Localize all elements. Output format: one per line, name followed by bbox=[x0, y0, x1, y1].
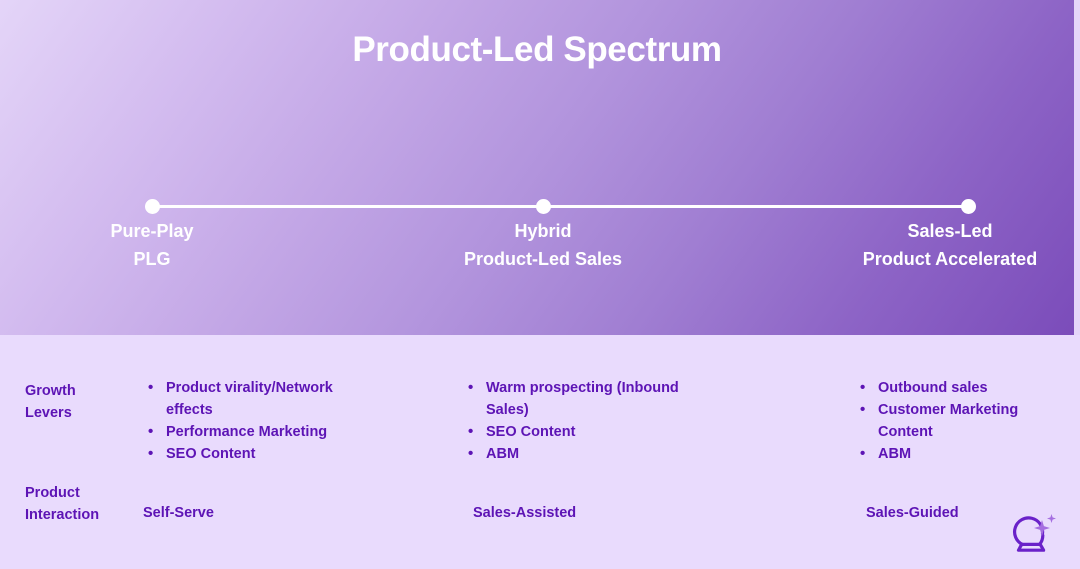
timeline-label-line1: Pure-Play bbox=[40, 217, 264, 245]
hero-right-edge-strip bbox=[1074, 0, 1080, 335]
row-label-product-interaction: Product Interaction bbox=[25, 482, 140, 526]
timeline-label-pure-play[interactable]: Pure-Play PLG bbox=[40, 217, 264, 273]
row-label-line1: Growth bbox=[25, 383, 76, 399]
list-item: Customer Marketing Content bbox=[860, 399, 1065, 443]
crystal-ball-logo bbox=[1008, 509, 1060, 557]
list-item: ABM bbox=[468, 443, 703, 465]
comparison-table: Growth Levers Product Interaction Produc… bbox=[0, 335, 1080, 569]
list-item: SEO Content bbox=[148, 443, 363, 465]
bullet-list: Outbound sales Customer Marketing Conten… bbox=[860, 377, 1065, 465]
bullet-list: Warm prospecting (Inbound Sales) SEO Con… bbox=[468, 377, 703, 465]
timeline-label-hybrid[interactable]: Hybrid Product-Led Sales bbox=[431, 217, 655, 273]
timeline-dot-hybrid[interactable] bbox=[536, 199, 551, 214]
page-title: Product-Led Spectrum bbox=[0, 30, 1074, 70]
product-interaction-value-sales-led: Sales-Guided bbox=[866, 502, 959, 524]
growth-levers-column-sales-led: Outbound sales Customer Marketing Conten… bbox=[860, 377, 1065, 465]
row-label-line2: Interaction bbox=[25, 507, 99, 523]
timeline-label-line2: PLG bbox=[40, 245, 264, 273]
timeline-dot-sales-led[interactable] bbox=[961, 199, 976, 214]
timeline-dot-pure-play[interactable] bbox=[145, 199, 160, 214]
timeline-label-line2: Product-Led Sales bbox=[431, 245, 655, 273]
timeline-label-line1: Sales-Led bbox=[826, 217, 1074, 245]
product-interaction-value-pure-play: Self-Serve bbox=[143, 502, 214, 524]
list-item: ABM bbox=[860, 443, 1065, 465]
row-label-line1: Product bbox=[25, 485, 80, 501]
list-item: Product virality/Network effects bbox=[148, 377, 363, 421]
row-label-line2: Levers bbox=[25, 405, 72, 421]
timeline-label-line1: Hybrid bbox=[431, 217, 655, 245]
growth-levers-column-pure-play: Product virality/Network effects Perform… bbox=[148, 377, 363, 465]
growth-levers-column-hybrid: Warm prospecting (Inbound Sales) SEO Con… bbox=[468, 377, 703, 465]
list-item: SEO Content bbox=[468, 421, 703, 443]
row-label-growth-levers: Growth Levers bbox=[25, 380, 140, 424]
timeline-label-line2: Product Accelerated bbox=[826, 245, 1074, 273]
list-item: Warm prospecting (Inbound Sales) bbox=[468, 377, 703, 421]
product-interaction-value-hybrid: Sales-Assisted bbox=[473, 502, 576, 524]
bullet-list: Product virality/Network effects Perform… bbox=[148, 377, 363, 465]
list-item: Outbound sales bbox=[860, 377, 1065, 399]
list-item: Performance Marketing bbox=[148, 421, 363, 443]
timeline-label-sales-led[interactable]: Sales-Led Product Accelerated bbox=[826, 217, 1074, 273]
